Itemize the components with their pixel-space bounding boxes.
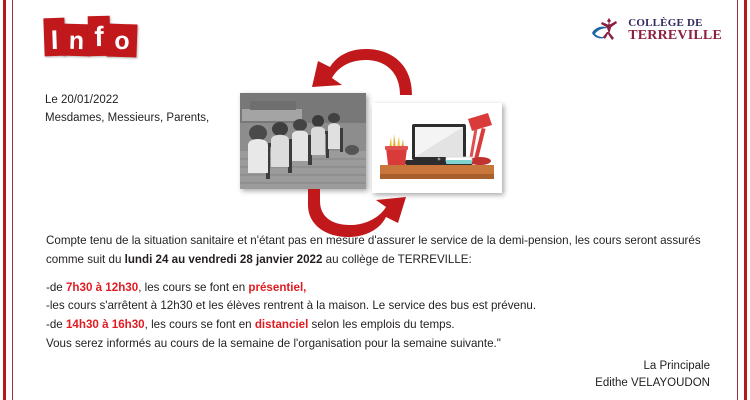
college-logo: COLLÈGE DE TERREVILLE	[590, 16, 722, 46]
schedule-line-2: -les cours s'arrêtent à 12h30 et les élè…	[46, 297, 706, 316]
classroom-illustration-icon	[240, 93, 366, 189]
photo-classroom	[240, 93, 366, 189]
schedule-line-4-prefix: Vous serez informés au cours de la semai…	[46, 337, 501, 350]
border-left-outer	[3, 0, 6, 400]
schedule-line-1-prefix: -de	[46, 281, 66, 294]
central-graphic	[230, 45, 500, 230]
paragraph-intro-text: Compte tenu de la situation sanitaire et…	[46, 232, 706, 270]
schedule-line-1-middle: , les cours se font en	[138, 281, 248, 294]
schedule-line-3-suffix: selon les emplois du temps.	[308, 318, 454, 331]
document-date: Le 20/01/2022	[45, 92, 209, 110]
intro-block: Le 20/01/2022 Mesdames, Messieurs, Paren…	[45, 92, 209, 128]
info-logo-letter-o: o	[106, 23, 137, 57]
college-emblem-icon	[590, 16, 624, 46]
schedule-line-1-highlight1: 7h30 à 12h30	[66, 281, 138, 294]
signature-name: Edithe VELAYOUDON	[595, 375, 710, 392]
schedule-list: -de 7h30 à 12h30, les cours se font en p…	[46, 279, 706, 354]
paragraph-intro: Compte tenu de la situation sanitaire et…	[46, 232, 706, 270]
schedule-line-4: Vous serez informés au cours de la semai…	[46, 335, 706, 354]
schedule-line-3-highlight1: 14h30 à 16h30	[66, 318, 145, 331]
signature-title: La Principale	[595, 358, 710, 375]
college-logo-text: COLLÈGE DE TERREVILLE	[628, 18, 722, 44]
paragraph-intro-dates: lundi 24 au vendredi 28 janvier 2022	[125, 253, 323, 266]
schedule-line-1-highlight2: présentiel,	[248, 281, 306, 294]
border-left-inner	[12, 0, 13, 400]
border-right-outer	[744, 0, 747, 400]
schedule-line-2-prefix: -les cours s'arrêtent à 12h30 et les élè…	[46, 299, 536, 312]
document-page: I n f o COLLÈGE DE TERREVILLE Le 20/01/2…	[0, 0, 750, 400]
body-text: Compte tenu de la situation sanitaire et…	[46, 232, 706, 354]
schedule-line-3-middle: , les cours se font en	[145, 318, 255, 331]
home-desk-illustration-icon	[372, 103, 502, 193]
paragraph-intro-part2: au collège de TERREVILLE:	[322, 253, 471, 266]
info-logo-letter-n: n	[63, 24, 91, 57]
schedule-line-3: -de 14h30 à 16h30, les cours se font en …	[46, 316, 706, 335]
salutation: Mesdames, Messieurs, Parents,	[45, 110, 209, 128]
cycle-arrow-top-icon	[308, 45, 420, 97]
info-logo: I n f o	[44, 14, 144, 64]
signature-block: La Principale Edithe VELAYOUDON	[595, 358, 710, 393]
schedule-line-1: -de 7h30 à 12h30, les cours se font en p…	[46, 279, 706, 298]
border-right-inner	[737, 0, 738, 400]
schedule-line-3-highlight2: distanciel	[255, 318, 308, 331]
schedule-line-3-prefix: -de	[46, 318, 66, 331]
photo-desk	[372, 103, 502, 193]
college-logo-line2: TERREVILLE	[628, 29, 722, 44]
